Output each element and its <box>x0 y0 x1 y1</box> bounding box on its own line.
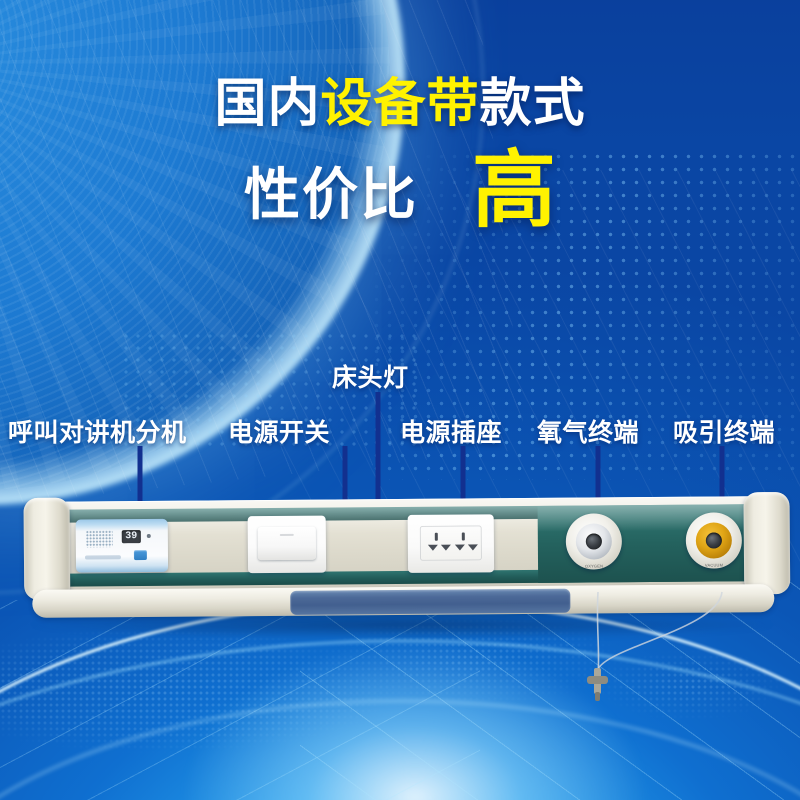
cord-metal-fitting <box>587 668 608 701</box>
hanging-cord <box>0 0 800 800</box>
cord-right <box>597 592 722 672</box>
banner-stage: 国内设备带款式 性价比 高 呼叫对讲机分机 电源开关 床头灯 电源插座 氧气终端… <box>0 0 800 800</box>
cord-left <box>597 592 598 675</box>
